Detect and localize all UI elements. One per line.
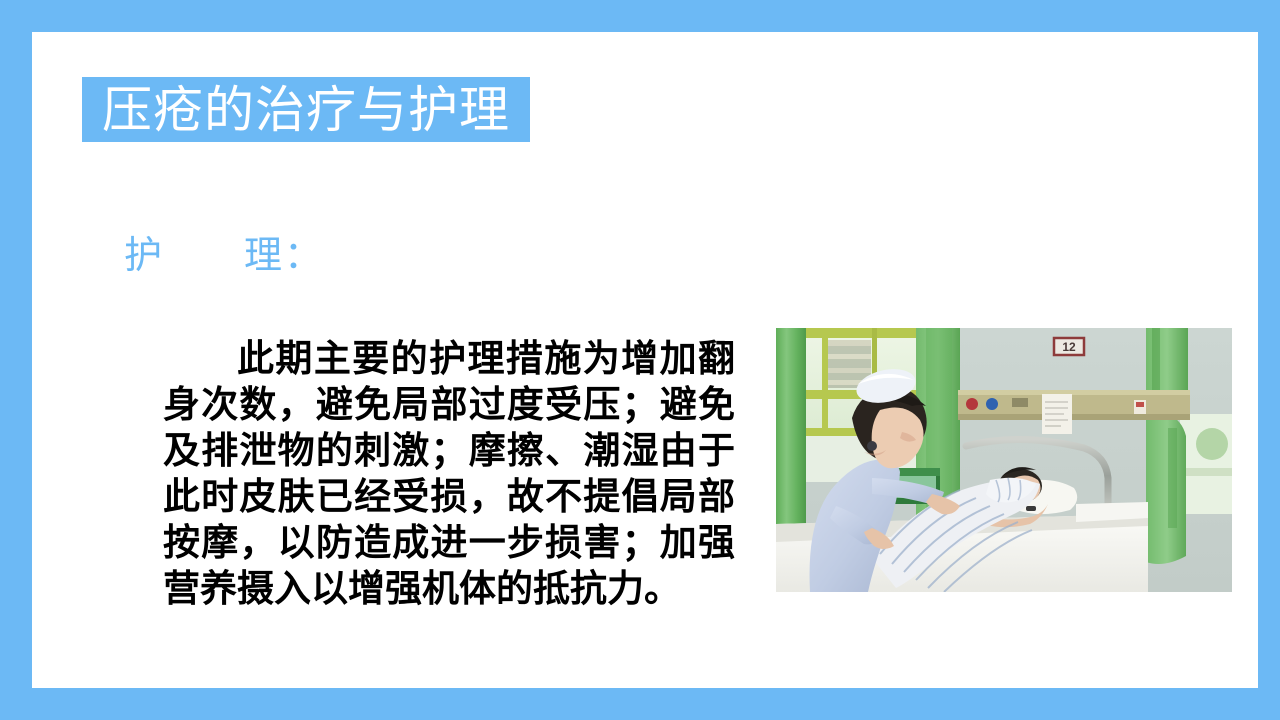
section-subtitle: 护 理：	[124, 235, 324, 279]
page-title: 压疮的治疗与护理	[102, 85, 510, 135]
nursing-care-photo: 12	[776, 328, 1232, 592]
slide-title-banner: 压疮的治疗与护理	[82, 77, 530, 142]
slide-border-frame: 压疮的治疗与护理 护 理： 此期主要的护理措施为增加翻身次数，避免局部过度受压；…	[0, 0, 1280, 720]
photo-illustration: 12	[776, 328, 1232, 592]
body-text-block: 此期主要的护理措施为增加翻身次数，避免局部过度受压；避免及排泄物的刺激；摩擦、潮…	[163, 300, 735, 650]
slide-canvas: 压疮的治疗与护理 护 理： 此期主要的护理措施为增加翻身次数，避免局部过度受压；…	[32, 32, 1258, 688]
svg-text:12: 12	[1062, 340, 1076, 354]
body-paragraph: 此期主要的护理措施为增加翻身次数，避免局部过度受压；避免及排泄物的刺激；摩擦、潮…	[163, 337, 735, 613]
